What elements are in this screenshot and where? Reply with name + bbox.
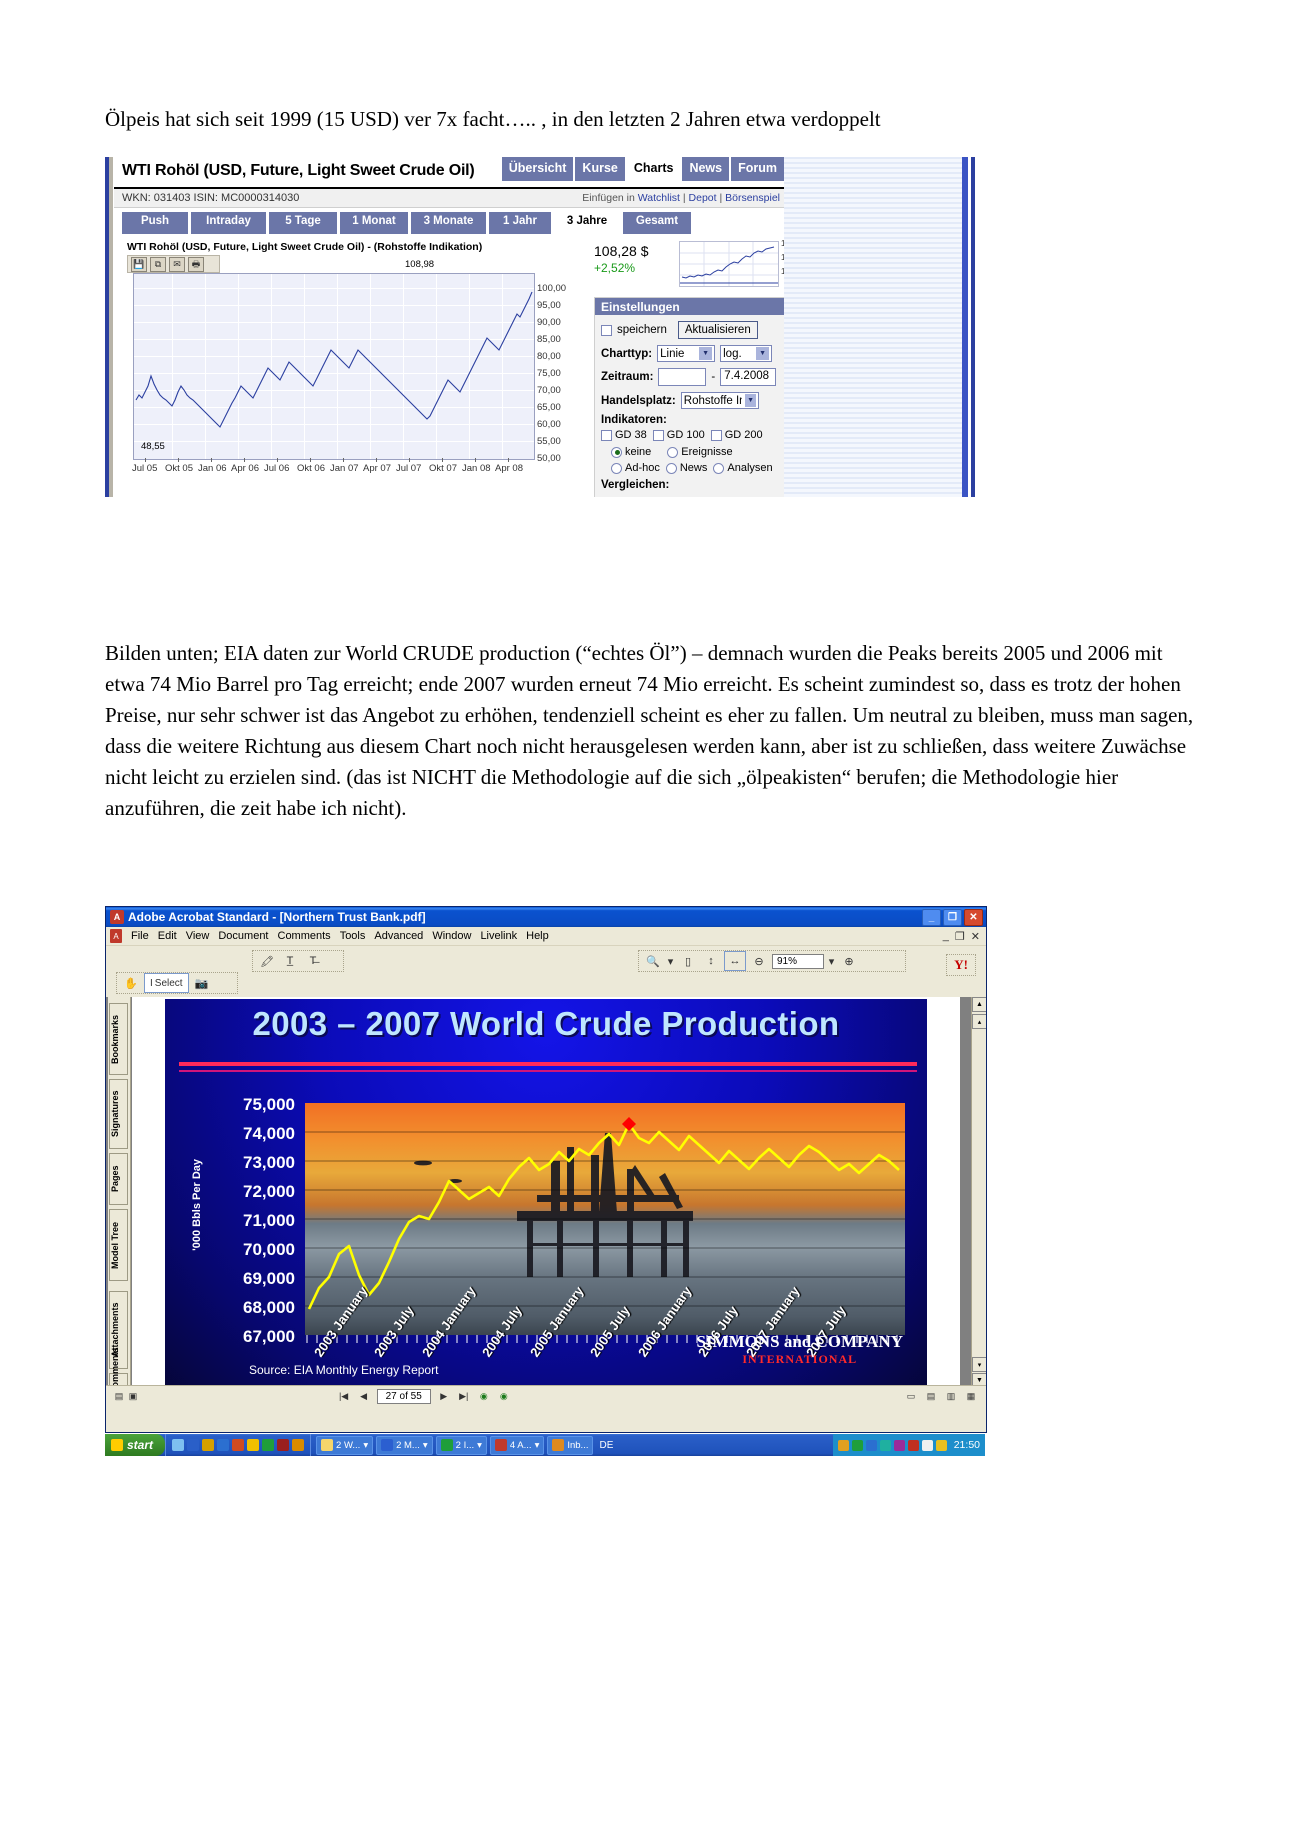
- windows-taskbar: start 2 W...▾ 2 M...▾ 2 I...▾ 4 A...▾ In…: [105, 1434, 985, 1456]
- task-chevron-2[interactable]: ▾: [423, 1440, 428, 1451]
- low-value-label: 48,55: [141, 441, 165, 452]
- tray-icon-5[interactable]: [894, 1440, 905, 1451]
- radio-analysen[interactable]: Analysen: [713, 462, 772, 474]
- gd38-label: GD 38: [615, 429, 647, 441]
- acrobat-window: A Adobe Acrobat Standard - [Northern Tru…: [105, 906, 987, 1433]
- single-page-view-icon[interactable]: ▭: [904, 1389, 918, 1403]
- windows-flag-icon: [111, 1439, 123, 1451]
- pdf-scrollbar[interactable]: ▲ ▴ ▾ ▼: [971, 997, 986, 1402]
- task-button-1[interactable]: 2 W...▾: [316, 1436, 373, 1455]
- tray-icon-2[interactable]: [852, 1440, 863, 1451]
- quick-launch-bar[interactable]: [165, 1434, 311, 1456]
- task-chevron-3[interactable]: ▾: [477, 1440, 482, 1451]
- tray-icon-6[interactable]: [908, 1440, 919, 1451]
- widget-left-border-2: [109, 157, 113, 497]
- charttype-row: Charttyp: Linie ▼ log. ▼: [595, 345, 785, 362]
- page-navigation[interactable]: |◀ ◀ 27 of 55 ▶ ▶| ◉ ◉: [337, 1389, 511, 1404]
- task-label-5: Inb...: [567, 1440, 588, 1451]
- slide-ytick-68000: 68,000: [209, 1298, 295, 1318]
- peak-value-label: 108,98: [405, 259, 434, 270]
- radio-ereignisse[interactable]: Ereignisse: [667, 446, 732, 458]
- period-3-monate[interactable]: 3 Monate: [411, 212, 486, 234]
- hand-tool-icon[interactable]: ✋: [121, 974, 141, 992]
- chevron-down-icon-2[interactable]: ▼: [756, 347, 769, 360]
- select-tool-button[interactable]: I Select: [144, 973, 189, 993]
- acrobat-toolbars: 🖍 T̲ T̶ ✋ I Select 📷 🔍 ▾ ▯ ↕ ↔ ⊖ 91%: [106, 946, 986, 999]
- period-1-monat[interactable]: 1 Monat: [340, 212, 408, 234]
- fit-page-icon[interactable]: ↕: [701, 952, 721, 970]
- slide-brand: SIMMONS and COMPANY INTERNATIONAL: [696, 1332, 903, 1367]
- window-controls[interactable]: _ ❐ ✕: [922, 909, 986, 926]
- widget-header: WTI Rohöl (USD, Future, Light Sweet Crud…: [114, 157, 784, 189]
- slide-ytick-70000: 70,000: [209, 1240, 295, 1260]
- browser-scrollbar[interactable]: [962, 157, 968, 497]
- mail-icon[interactable]: ✉: [169, 257, 185, 272]
- analysen-label: Analysen: [727, 462, 772, 474]
- chevron-down-icon[interactable]: ▼: [699, 347, 712, 360]
- previous-page-icon[interactable]: ◀: [357, 1389, 371, 1403]
- ytick-0: 100,00: [537, 283, 566, 294]
- task-chevron-4[interactable]: ▾: [535, 1440, 540, 1451]
- brand-line-2: INTERNATIONAL: [696, 1352, 903, 1367]
- menu-livelink[interactable]: Livelink: [480, 930, 517, 942]
- menu-document[interactable]: Document: [218, 930, 268, 942]
- link-boersenspiel[interactable]: Börsenspiel: [725, 192, 780, 204]
- continuous-view-icon[interactable]: ▤: [924, 1389, 938, 1403]
- gd200-label: GD 200: [725, 429, 763, 441]
- nav-tab-signatures[interactable]: Signatures: [109, 1079, 128, 1149]
- ytick-6: 70,00: [537, 385, 561, 396]
- strikeout-text-icon[interactable]: T̶: [303, 952, 323, 970]
- commenting-toolbar[interactable]: 🖍 T̲ T̶: [252, 950, 344, 972]
- link-depot[interactable]: Depot: [689, 192, 717, 204]
- page-indicator[interactable]: 27 of 55: [377, 1389, 431, 1404]
- radio-keine[interactable]: keine: [611, 446, 651, 458]
- keine-label: keine: [625, 446, 651, 458]
- instrument-title: WTI Rohöl (USD, Future, Light Sweet Crud…: [122, 162, 475, 180]
- quote-change: +2,52%: [594, 261, 649, 275]
- quicklaunch-icon-4[interactable]: [217, 1439, 229, 1451]
- period-1-jahr[interactable]: 1 Jahr: [489, 212, 551, 234]
- slide-ytick-74000: 74,000: [209, 1124, 295, 1144]
- indikatoren-row: Indikatoren:: [595, 414, 785, 426]
- indicator-checkboxes: GD 38 GD 100 GD 200: [595, 429, 785, 441]
- quicklaunch-icon-5[interactable]: [232, 1439, 244, 1451]
- period-push[interactable]: Push: [122, 212, 188, 234]
- acrobat-status-bar: ▤ ▣ |◀ ◀ 27 of 55 ▶ ▶| ◉ ◉ ▭ ▤ ▥ ▦: [106, 1385, 986, 1406]
- ytick-1: 95,00: [537, 300, 561, 311]
- zeitraum-to-input[interactable]: 7.4.2008: [720, 368, 776, 386]
- period-selector[interactable]: Push Intraday 5 Tage 1 Monat 3 Monate 1 …: [114, 212, 784, 234]
- xtick-okt-07: Okt 07: [429, 463, 457, 474]
- task-chevron-1[interactable]: ▾: [363, 1440, 368, 1451]
- widget-right-border: [971, 157, 975, 497]
- ereignisse-label: Ereignisse: [681, 446, 732, 458]
- slide-rule-red: [179, 1062, 917, 1066]
- charttype-select[interactable]: Linie ▼: [657, 345, 715, 362]
- single-page-icon[interactable]: ▣: [126, 1389, 140, 1403]
- adhoc-radio[interactable]: [611, 463, 622, 474]
- adhoc-label: Ad-hoc: [625, 462, 660, 474]
- xtick-jan-06: Jan 06: [198, 463, 227, 474]
- link-watchlist[interactable]: Watchlist: [638, 192, 680, 204]
- gd100-checkbox[interactable]: [653, 430, 664, 441]
- wkn-isin-label: WKN: 031403 ISIN: MC0000314030: [122, 192, 299, 204]
- snapshot-tool-icon[interactable]: 📷: [192, 974, 212, 992]
- document-icon: A: [110, 929, 122, 943]
- acrobat-menu-bar[interactable]: A File Edit View Document Comments Tools…: [106, 927, 986, 946]
- period-5-tage[interactable]: 5 Tage: [269, 212, 337, 234]
- save-icon[interactable]: 💾: [131, 257, 147, 272]
- slide-rule-magenta: [179, 1070, 917, 1072]
- tab-uebersicht[interactable]: Übersicht: [502, 157, 574, 181]
- task-button-2[interactable]: 2 M...▾: [376, 1436, 433, 1455]
- copy-icon[interactable]: ⧉: [150, 257, 166, 272]
- nav-tab-pages[interactable]: Pages: [109, 1153, 128, 1205]
- select-cursor-icon: I: [150, 978, 153, 989]
- brand-line-1: SIMMONS and COMPANY: [696, 1332, 903, 1352]
- slide-source-note: Source: EIA Monthly Energy Report: [249, 1363, 438, 1377]
- handelsplatz-value: Rohstoffe Indil: [684, 395, 743, 407]
- zeitraum-from-input[interactable]: [658, 368, 706, 386]
- main-chart-frame: WTI Rohöl (USD, Future, Light Sweet Crud…: [123, 241, 578, 489]
- zeitraum-label: Zeitraum:: [601, 371, 653, 383]
- xtick-apr-06: Apr 06: [231, 463, 259, 474]
- minimize-button[interactable]: _: [922, 909, 941, 926]
- handelsplatz-label: Handelsplatz:: [601, 395, 676, 407]
- acrobat-window-title: Adobe Acrobat Standard - [Northern Trust…: [128, 910, 426, 924]
- pdf-page: 2003 – 2007 World Crude Production '000 …: [132, 997, 960, 1402]
- slide-ytick-71000: 71,000: [209, 1211, 295, 1231]
- inbox-icon: [552, 1439, 564, 1451]
- mdi-controls[interactable]: _ ❐ ✕: [943, 930, 986, 943]
- menu-tools[interactable]: Tools: [340, 930, 366, 942]
- navigation-rail[interactable]: Bookmarks Signatures Pages Model Tree At…: [108, 997, 131, 1402]
- scale-value: log.: [723, 348, 742, 360]
- first-page-icon[interactable]: |◀: [337, 1389, 351, 1403]
- scale-select[interactable]: log. ▼: [720, 345, 772, 362]
- gd38-checkbox[interactable]: [601, 430, 612, 441]
- slide-ytick-72000: 72,000: [209, 1182, 295, 1202]
- speichern-label: speichern: [617, 324, 667, 336]
- chart-toolbar[interactable]: 💾 ⧉ ✉ 🖶: [127, 255, 220, 273]
- widget-content: WTI Rohöl (USD, Future, Light Sweet Crud…: [114, 157, 784, 497]
- period-3-jahre[interactable]: 3 Jahre: [554, 212, 620, 234]
- quicklaunch-icon-6[interactable]: [247, 1439, 259, 1451]
- quote-block: 108,28 $ +2,52%: [594, 243, 649, 275]
- chart-caption: WTI Rohöl (USD, Future, Light Sweet Crud…: [127, 241, 482, 253]
- zoom-level-input[interactable]: 91%: [772, 954, 824, 969]
- analysen-radio[interactable]: [713, 463, 724, 474]
- body-paragraph: Bilden unten; EIA daten zur World CRUDE …: [105, 638, 1195, 824]
- gd100-label: GD 100: [667, 429, 705, 441]
- news-radio[interactable]: [666, 463, 677, 474]
- acrobat-document-area: Bookmarks Signatures Pages Model Tree At…: [106, 997, 986, 1402]
- last-page-icon[interactable]: ▶|: [457, 1389, 471, 1403]
- folder-icon: [321, 1439, 333, 1451]
- zoom-tool-icon[interactable]: 🔍: [643, 952, 663, 970]
- keine-radio[interactable]: [611, 447, 622, 458]
- view-mode-buttons[interactable]: ▭ ▤ ▥ ▦: [904, 1389, 986, 1403]
- highlight-text-icon[interactable]: 🖍: [257, 952, 277, 970]
- page-texture: [784, 157, 962, 497]
- tab-news[interactable]: News: [682, 157, 729, 181]
- menu-edit[interactable]: Edit: [158, 930, 177, 942]
- charttype-label: Charttyp:: [601, 348, 652, 360]
- tray-icon-4[interactable]: [880, 1440, 891, 1451]
- start-label: start: [127, 1438, 153, 1452]
- xtick-okt-06: Okt 06: [297, 463, 325, 474]
- xtick-apr-08: Apr 08: [495, 463, 523, 474]
- handelsplatz-row: Handelsplatz: Rohstoffe Indil ▼: [595, 392, 785, 409]
- indikatoren-label: Indikatoren:: [601, 414, 667, 426]
- xtick-jul-07: Jul 07: [396, 463, 421, 474]
- indicator-gd38[interactable]: GD 38: [601, 429, 647, 441]
- print-icon[interactable]: 🖶: [188, 257, 204, 272]
- settings-header: Einstellungen: [595, 298, 785, 315]
- task-label-2: 2 M...: [396, 1440, 420, 1451]
- facing-view-icon[interactable]: ▥: [944, 1389, 958, 1403]
- settings-panel: Einstellungen speichern Aktualisieren Ch…: [594, 297, 786, 497]
- mini-chart-svg: [680, 242, 778, 286]
- crude-production-slide: 2003 – 2007 World Crude Production '000 …: [165, 999, 927, 1399]
- system-tray[interactable]: 21:50: [833, 1434, 985, 1456]
- acrobat-task-icon: [495, 1439, 507, 1451]
- ytick-3: 85,00: [537, 334, 561, 345]
- mdi-minimize[interactable]: _: [943, 930, 949, 943]
- nav-tab-bookmarks[interactable]: Bookmarks: [109, 1003, 128, 1075]
- radio-news[interactable]: News: [666, 462, 708, 474]
- task-button-4[interactable]: 4 A...▾: [490, 1436, 544, 1455]
- chevron-down-icon-3[interactable]: ▼: [745, 394, 755, 407]
- menu-window[interactable]: Window: [432, 930, 471, 942]
- menu-advanced[interactable]: Advanced: [374, 930, 423, 942]
- quote-price: 108,28 $: [594, 243, 649, 259]
- price-plot: [133, 273, 535, 460]
- period-intraday[interactable]: Intraday: [191, 212, 266, 234]
- handelsplatz-select[interactable]: Rohstoffe Indil ▼: [681, 392, 759, 409]
- task-buttons[interactable]: 2 W...▾ 2 M...▾ 2 I...▾ 4 A...▾ Inb...: [311, 1436, 593, 1455]
- zeitraum-dash: -: [711, 371, 715, 383]
- task-button-3[interactable]: 2 I...▾: [436, 1436, 487, 1455]
- xtick-jan-08: Jan 08: [462, 463, 491, 474]
- fit-width-icon[interactable]: ↔: [724, 951, 746, 971]
- indicator-gd100[interactable]: GD 100: [653, 429, 705, 441]
- link-sep-1: |: [680, 192, 689, 204]
- slide-ytick-75000: 75,000: [209, 1095, 295, 1115]
- tray-icon-7[interactable]: [936, 1440, 947, 1451]
- watchlist-links: Einfügen in Watchlist | Depot | Börsensp…: [582, 192, 780, 204]
- volume-icon[interactable]: [922, 1440, 933, 1451]
- tray-icon-3[interactable]: [866, 1440, 877, 1451]
- mdi-restore[interactable]: ❐: [955, 930, 965, 943]
- quicklaunch-icon-8[interactable]: [277, 1439, 289, 1451]
- slide-ytick-73000: 73,000: [209, 1153, 295, 1173]
- previous-view-icon[interactable]: ◉: [477, 1389, 491, 1403]
- slide-title: 2003 – 2007 World Crude Production: [165, 1005, 927, 1043]
- quicklaunch-icon-1[interactable]: [172, 1439, 184, 1451]
- continuous-facing-view-icon[interactable]: ▦: [964, 1389, 978, 1403]
- mini-intraday-chart: 108,00 107,00 106,00: [679, 241, 779, 287]
- intro-line: Ölpeis hat sich seit 1999 (15 USD) ver 7…: [105, 104, 1195, 135]
- oil-platform-illustration: [305, 1103, 905, 1335]
- mdi-close[interactable]: ✕: [971, 930, 980, 943]
- zeitraum-row: Zeitraum: - 7.4.2008: [595, 368, 785, 386]
- close-button[interactable]: ✕: [964, 909, 983, 926]
- language-indicator[interactable]: DE: [593, 1440, 619, 1451]
- zoom-toolbar[interactable]: 🔍 ▾ ▯ ↕ ↔ ⊖ 91% ▾ ⊕: [638, 950, 906, 972]
- zoom-dropdown-icon[interactable]: ▾: [666, 952, 675, 970]
- menu-help[interactable]: Help: [526, 930, 549, 942]
- taskbar-clock[interactable]: 21:50: [950, 1439, 980, 1451]
- ytick-10: 50,00: [537, 453, 561, 464]
- tab-forum[interactable]: Forum: [731, 157, 784, 181]
- gd200-checkbox[interactable]: [711, 430, 722, 441]
- ytick-5: 75,00: [537, 368, 561, 379]
- start-button[interactable]: start: [105, 1434, 165, 1456]
- restore-button[interactable]: ❐: [943, 909, 962, 926]
- widget-tab-bar[interactable]: Übersicht Kurse Charts News Forum: [502, 157, 784, 181]
- quicklaunch-icon-7[interactable]: [262, 1439, 274, 1451]
- tab-kurse[interactable]: Kurse: [575, 157, 624, 181]
- task-label-3: 2 I...: [456, 1440, 474, 1451]
- zoom-level-dropdown-icon[interactable]: ▾: [827, 952, 836, 970]
- speichern-checkbox[interactable]: [601, 325, 612, 336]
- quicklaunch-icon-3[interactable]: [202, 1439, 214, 1451]
- vergleichen-row: Vergleichen:: [595, 479, 785, 491]
- link-sep-2: |: [717, 192, 726, 204]
- save-row: speichern Aktualisieren: [595, 321, 785, 339]
- xtick-okt-05: Okt 05: [165, 463, 193, 474]
- ytick-2: 90,00: [537, 317, 561, 328]
- price-line-svg: [134, 274, 534, 459]
- page-layout-icon[interactable]: ▤: [112, 1389, 126, 1403]
- slide-ytick-67000: 67,000: [209, 1327, 295, 1347]
- zoom-out-icon[interactable]: ⊖: [749, 952, 769, 970]
- scroll-up-button[interactable]: ▲: [972, 997, 987, 1012]
- quicklaunch-icon-2[interactable]: [187, 1439, 199, 1451]
- widget-subheader: WKN: 031403 ISIN: MC0000314030 Einfügen …: [114, 189, 784, 208]
- production-plot: [305, 1103, 905, 1335]
- news-label: News: [680, 462, 708, 474]
- event-radios-row-2: Ad-hoc News Analysen: [595, 462, 785, 474]
- document-page: Ölpeis hat sich seit 1999 (15 USD) ver 7…: [0, 0, 1298, 1837]
- tab-charts[interactable]: Charts: [627, 157, 681, 181]
- radio-adhoc[interactable]: Ad-hoc: [611, 462, 660, 474]
- charttype-value: Linie: [660, 348, 684, 360]
- browser-right-strip: [784, 157, 968, 497]
- yahoo-toolbar-icon[interactable]: Y!: [946, 954, 976, 976]
- tray-icon-1[interactable]: [838, 1440, 849, 1451]
- acrobat-icon: A: [110, 910, 124, 924]
- task-button-5[interactable]: Inb...: [547, 1436, 593, 1455]
- ytick-7: 65,00: [537, 402, 561, 413]
- period-gesamt[interactable]: Gesamt: [623, 212, 691, 234]
- ytick-4: 80,00: [537, 351, 561, 362]
- xtick-jul-06: Jul 06: [264, 463, 289, 474]
- slide-ytick-69000: 69,000: [209, 1269, 295, 1289]
- scroll-page-up-button[interactable]: ▴: [972, 1014, 987, 1029]
- task-label-1: 2 W...: [336, 1440, 360, 1451]
- slide-y-axis-label: '000 Bbls Per Day: [191, 1159, 203, 1251]
- scroll-page-down-button[interactable]: ▾: [972, 1357, 987, 1372]
- nav-tab-model-tree[interactable]: Model Tree: [109, 1209, 128, 1281]
- quicklaunch-icon-9[interactable]: [292, 1439, 304, 1451]
- acrobat-title-bar: A Adobe Acrobat Standard - [Northern Tru…: [106, 907, 986, 927]
- next-page-icon[interactable]: ▶: [437, 1389, 451, 1403]
- event-radios-row-1: keine Ereignisse: [595, 446, 785, 458]
- stock-chart-widget: WTI Rohöl (USD, Future, Light Sweet Crud…: [105, 157, 975, 497]
- underline-text-icon[interactable]: T̲: [280, 952, 300, 970]
- xtick-apr-07: Apr 07: [363, 463, 391, 474]
- select-tool-label: Select: [155, 978, 183, 989]
- ytick-9: 55,00: [537, 436, 561, 447]
- explorer-icon: [441, 1439, 453, 1451]
- aktualisieren-button[interactable]: Aktualisieren: [678, 321, 758, 339]
- word-icon: [381, 1439, 393, 1451]
- menu-file[interactable]: File: [131, 930, 149, 942]
- zoom-in-icon[interactable]: ⊕: [839, 952, 859, 970]
- basic-tools-toolbar[interactable]: ✋ I Select 📷: [116, 972, 238, 994]
- links-prefix: Einfügen in: [582, 192, 637, 204]
- vergleichen-label: Vergleichen:: [601, 479, 669, 491]
- menu-comments[interactable]: Comments: [278, 930, 331, 942]
- ytick-8: 60,00: [537, 419, 561, 430]
- ereignisse-radio[interactable]: [667, 447, 678, 458]
- xtick-jul-05: Jul 05: [132, 463, 157, 474]
- menu-view[interactable]: View: [186, 930, 210, 942]
- task-label-4: 4 A...: [510, 1440, 532, 1451]
- next-view-icon[interactable]: ◉: [497, 1389, 511, 1403]
- xtick-jan-07: Jan 07: [330, 463, 359, 474]
- actual-size-icon[interactable]: ▯: [678, 952, 698, 970]
- indicator-gd200[interactable]: GD 200: [711, 429, 763, 441]
